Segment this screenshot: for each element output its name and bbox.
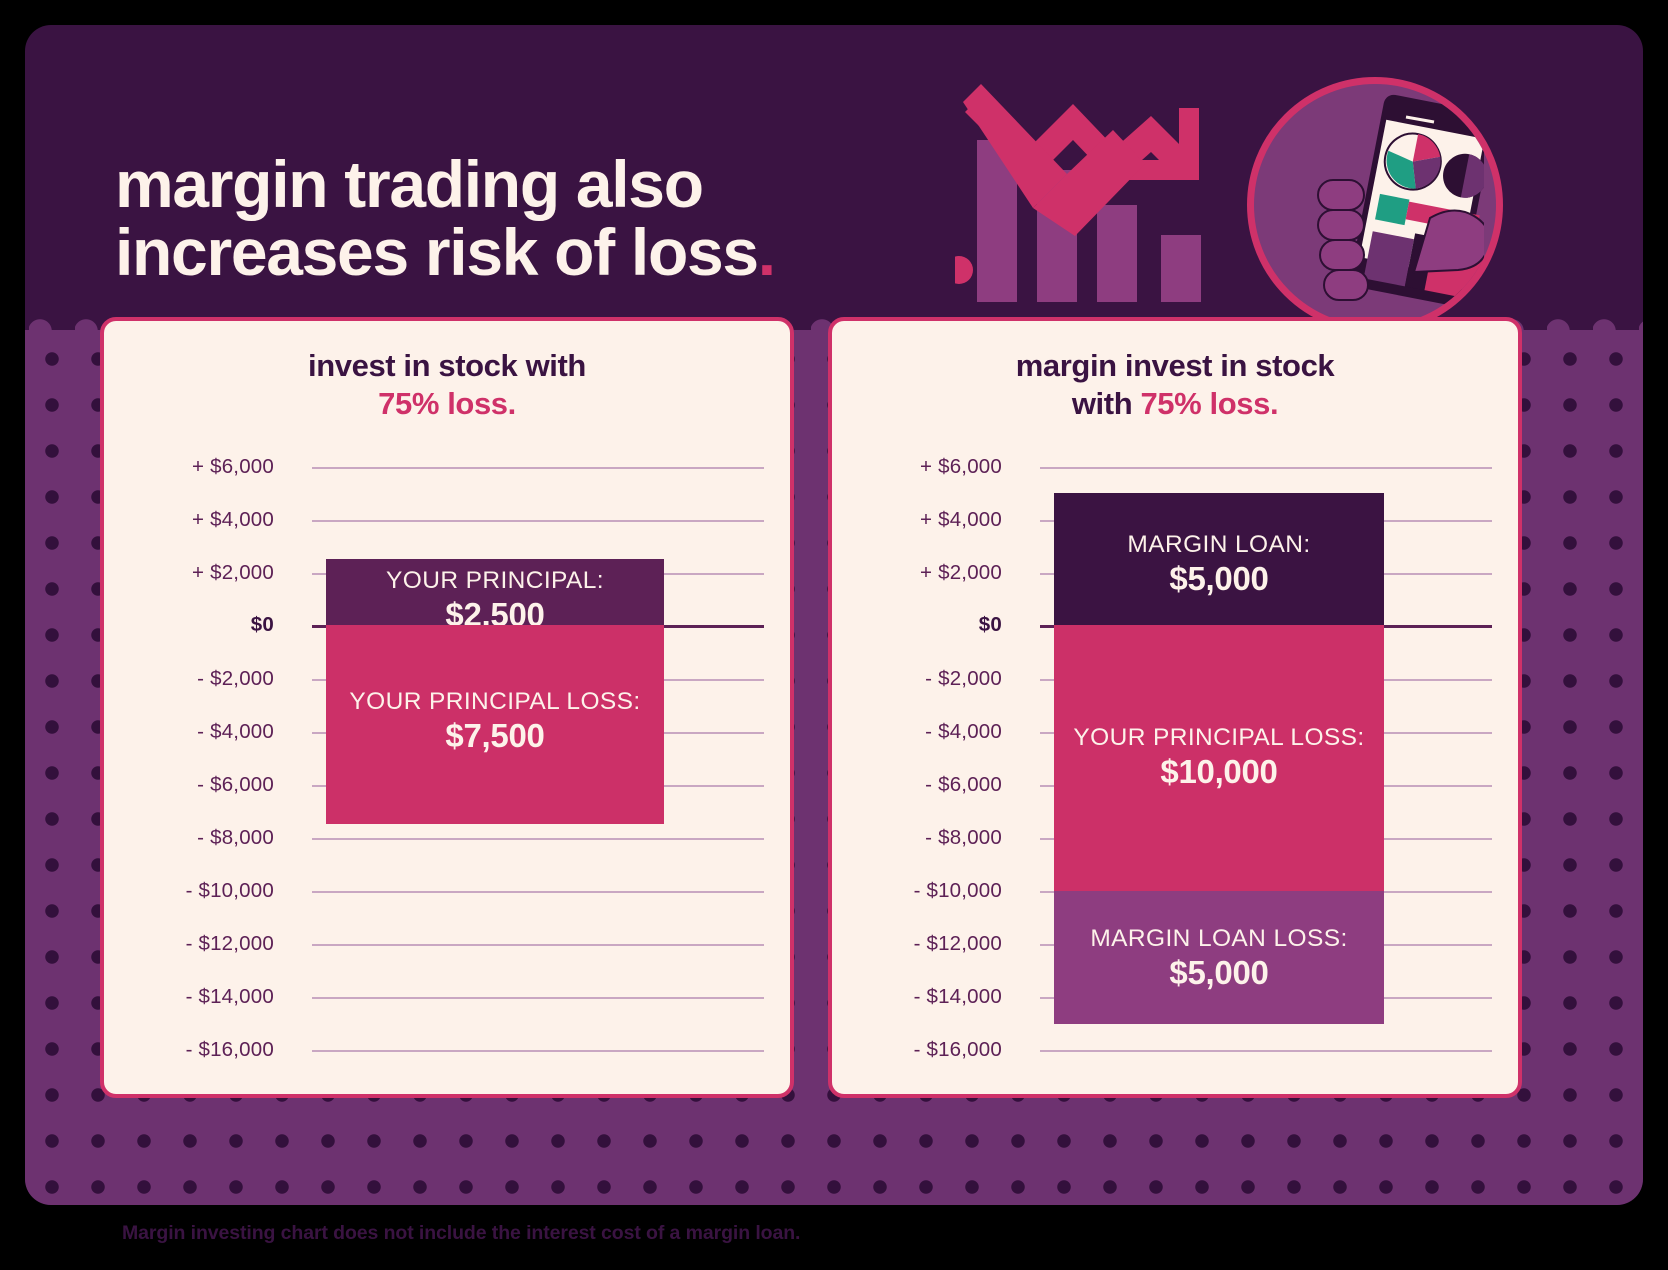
axis-label: - $10,000 (124, 879, 274, 903)
gridline (312, 891, 764, 893)
chart-card-margin-invest: margin invest in stock with 75% loss. + … (828, 317, 1522, 1098)
axis-label: + $2,000 (852, 561, 1002, 585)
axis-label: - $4,000 (852, 720, 1002, 744)
axis-label: - $6,000 (852, 773, 1002, 797)
bar-segment-margin-loan-loss: MARGIN LOAN LOSS: $5,000 (1054, 891, 1384, 1024)
gridline (312, 467, 764, 469)
axis-label: - $6,000 (124, 773, 274, 797)
axis-label: - $8,000 (852, 826, 1002, 850)
axis-label: - $8,000 (124, 826, 274, 850)
bar-segment-label: YOUR PRINCIPAL LOSS: (1054, 724, 1384, 753)
headline-period: . (758, 215, 775, 289)
page-title: margin trading also increases risk of lo… (115, 151, 965, 286)
axis-label: - $12,000 (852, 932, 1002, 956)
gridline (312, 1050, 764, 1052)
gridline (1040, 467, 1492, 469)
axis-label: - $2,000 (852, 667, 1002, 691)
headline-line-1: margin trading also (115, 147, 703, 221)
bar-segment-label: MARGIN LOAN LOSS: (1054, 925, 1384, 954)
axis-label: - $10,000 (852, 879, 1002, 903)
bar-segment-label: YOUR PRINCIPAL: (326, 567, 664, 596)
bar-segment-your-principal-loss: YOUR PRINCIPAL LOSS: $10,000 (1054, 625, 1384, 891)
axis-label: + $4,000 (124, 508, 274, 532)
gridline (312, 944, 764, 946)
bar-segment-text: YOUR PRINCIPAL: $2,500 (326, 567, 664, 625)
axis-label: - $12,000 (124, 932, 274, 956)
gridline (312, 997, 764, 999)
gridline (312, 520, 764, 522)
axis-label: + $4,000 (852, 508, 1002, 532)
headline-line-2: increases risk of loss (115, 215, 758, 289)
axis-label-zero: $0 (124, 613, 274, 637)
axis-label: + $6,000 (852, 455, 1002, 479)
bar-segment-text: MARGIN LOAN LOSS: $5,000 (1054, 925, 1384, 993)
axis-label: + $6,000 (124, 455, 274, 479)
footnote: Margin investing chart does not include … (122, 1222, 800, 1245)
axis-label: - $16,000 (852, 1038, 1002, 1062)
bar-segment-your-principal-loss: YOUR PRINCIPAL LOSS: $7,500 (326, 625, 664, 824)
bar-segment-value: $10,000 (1054, 753, 1384, 792)
axis-label: - $2,000 (124, 667, 274, 691)
chart-plot-left: + $6,000 + $4,000 + $2,000 $0 - $2,000 -… (104, 321, 790, 1094)
gridline (1040, 1050, 1492, 1052)
bar-segment-text: YOUR PRINCIPAL LOSS: $7,500 (326, 688, 664, 756)
chart-card-invest-in-stock: invest in stock with 75% loss. + $6,000 … (100, 317, 794, 1098)
bar-segment-value: $5,000 (1054, 954, 1384, 993)
bar-segment-value: $5,000 (1054, 560, 1384, 599)
axis-label-zero: $0 (852, 613, 1002, 637)
axis-label: - $16,000 (124, 1038, 274, 1062)
bar-segment-label: YOUR PRINCIPAL LOSS: (326, 688, 664, 717)
bar-segment-value: $2,500 (326, 596, 664, 625)
axis-label: + $2,000 (124, 561, 274, 585)
bar-segment-value: $7,500 (326, 717, 664, 756)
infographic-canvas: margin trading also increases risk of lo… (25, 25, 1643, 1205)
bar-segment-text: YOUR PRINCIPAL LOSS: $10,000 (1054, 724, 1384, 792)
bar-chart-down-arrow-icon (955, 80, 1225, 305)
gridline (312, 838, 764, 840)
axis-label: - $14,000 (852, 985, 1002, 1009)
axis-label: - $14,000 (124, 985, 274, 1009)
bar-segment-label: MARGIN LOAN: (1054, 531, 1384, 560)
chart-plot-right: + $6,000 + $4,000 + $2,000 $0 - $2,000 -… (832, 321, 1518, 1094)
bar-segment-your-principal: YOUR PRINCIPAL: $2,500 (326, 559, 664, 625)
bar-segment-text: MARGIN LOAN: $5,000 (1054, 531, 1384, 599)
axis-label: - $4,000 (124, 720, 274, 744)
phone-investing-illustration (1247, 77, 1503, 333)
bar-segment-margin-loan: MARGIN LOAN: $5,000 (1054, 493, 1384, 625)
